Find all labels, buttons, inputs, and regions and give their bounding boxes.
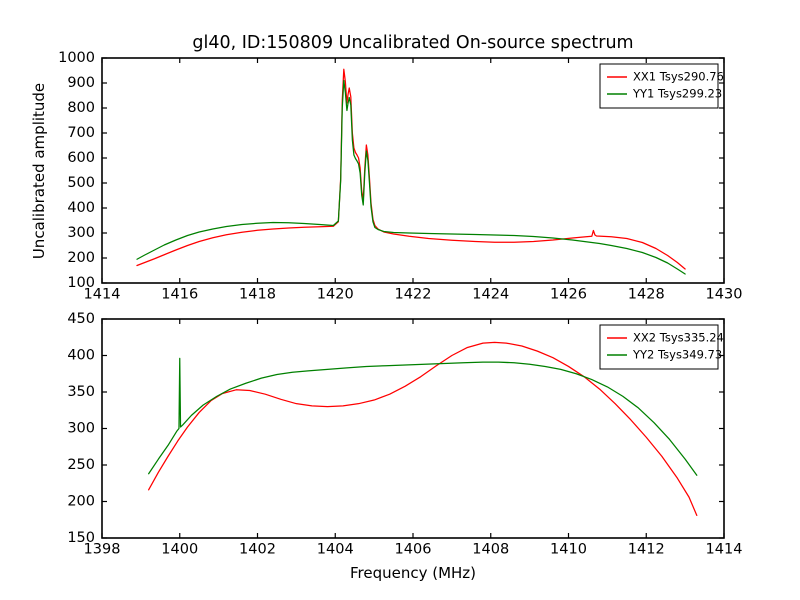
y-tick-label: 1000: [58, 50, 95, 66]
y-tick-label: 300: [67, 421, 95, 437]
y-tick-label: 350: [67, 384, 95, 400]
axes-upper-spectrum: 1414141614181420142214241426142814301002…: [30, 50, 742, 303]
y-tick-label: 900: [67, 75, 95, 91]
y-tick-label: 600: [67, 150, 95, 166]
legend-entry-label: YY2 Tsys349.73: [632, 348, 722, 362]
page-title: gl40, ID:150809 Uncalibrated On-source s…: [192, 33, 633, 53]
plot-svg: gl40, ID:150809 Uncalibrated On-source s…: [0, 0, 800, 600]
x-tick-label: 1422: [395, 287, 432, 303]
x-tick-label: 1416: [161, 287, 198, 303]
x-tick-label: 1420: [317, 287, 354, 303]
x-tick-label: 1400: [161, 542, 198, 558]
y-tick-label: 300: [67, 225, 95, 241]
x-tick-label: 1428: [628, 287, 665, 303]
axes-lower-spectrum: 1398140014021404140614081410141214141502…: [67, 311, 742, 582]
y-tick-label: 400: [67, 200, 95, 216]
y-tick-label: 100: [67, 275, 95, 291]
y-tick-label: 800: [67, 100, 95, 116]
legend-entry-label: XX2 Tsys335.24: [633, 331, 724, 345]
y-tick-label: 200: [67, 494, 95, 510]
x-tick-label: 1426: [550, 287, 587, 303]
x-tick-label: 1414: [706, 542, 743, 558]
legend-entry-label: YY1 Tsys299.23: [632, 87, 722, 101]
x-tick-label: 1406: [395, 542, 432, 558]
x-tick-label: 1410: [550, 542, 587, 558]
x-tick-label: 1408: [472, 542, 509, 558]
figure-canvas: gl40, ID:150809 Uncalibrated On-source s…: [0, 0, 800, 600]
x-tick-label: 1430: [706, 287, 743, 303]
x-tick-label: 1418: [239, 287, 276, 303]
x-tick-label: 1412: [628, 542, 665, 558]
y-tick-label: 250: [67, 457, 95, 473]
upper-legend[interactable]: XX1 Tsys290.76YY1 Tsys299.23: [600, 64, 724, 108]
legend-entry-label: XX1 Tsys290.76: [633, 70, 724, 84]
x-tick-label: 1404: [317, 542, 354, 558]
y-tick-label: 500: [67, 175, 95, 191]
y-tick-label: 200: [67, 250, 95, 266]
y-tick-label: 400: [67, 348, 95, 364]
upper-ylabel: Uncalibrated amplitude: [30, 83, 48, 259]
y-tick-label: 700: [67, 125, 95, 141]
series-line: [137, 81, 685, 275]
lower-legend[interactable]: XX2 Tsys335.24YY2 Tsys349.73: [600, 325, 724, 369]
y-tick-label: 150: [67, 530, 95, 546]
x-tick-label: 1402: [239, 542, 276, 558]
lower-xlabel: Frequency (MHz): [350, 564, 476, 582]
y-tick-label: 450: [67, 311, 95, 327]
x-tick-label: 1424: [472, 287, 509, 303]
